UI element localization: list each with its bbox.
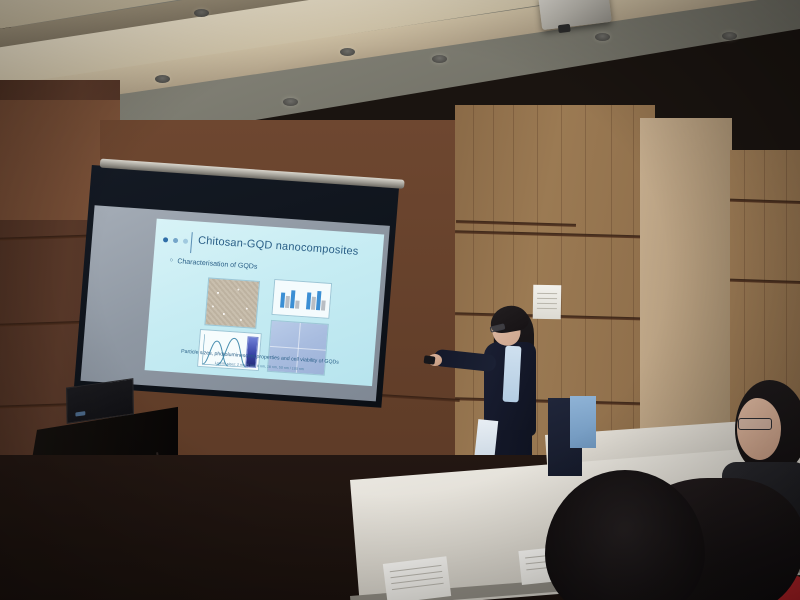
presentation-room-photo: Chitosan-GQD nanocomposites Characterisa… xyxy=(0,0,800,600)
figure-bar-chart xyxy=(271,279,332,319)
laptop-logo-icon xyxy=(75,411,85,416)
downlight-icon xyxy=(595,33,610,41)
bar-chart-bars xyxy=(280,287,327,311)
presentation-clicker[interactable] xyxy=(423,355,435,364)
projection-screen: Chitosan-GQD nanocomposites Characterisa… xyxy=(74,163,403,409)
figure-tem-micrograph xyxy=(204,277,260,328)
standing-person-shirt xyxy=(570,396,596,448)
downlight-icon xyxy=(194,9,209,17)
downlight-icon xyxy=(722,32,737,40)
screen-surface: Chitosan-GQD nanocomposites Characterisa… xyxy=(81,205,390,401)
downlight-icon xyxy=(432,55,447,63)
audience-glasses-icon xyxy=(738,418,772,430)
slide-logo-dots-icon xyxy=(163,237,188,244)
slide-bullet-text: Characterisation of GQDs xyxy=(177,258,258,271)
downlight-icon xyxy=(155,75,170,83)
panel-groove xyxy=(455,230,655,239)
slide-title-divider xyxy=(190,232,193,253)
slide-title: Chitosan-GQD nanocomposites xyxy=(198,235,359,258)
downlight-icon xyxy=(340,48,355,56)
presenter-shirt xyxy=(503,346,522,403)
downlight-icon xyxy=(283,98,298,106)
projected-slide: Chitosan-GQD nanocomposites Characterisa… xyxy=(145,219,385,386)
document-on-table xyxy=(383,556,451,600)
